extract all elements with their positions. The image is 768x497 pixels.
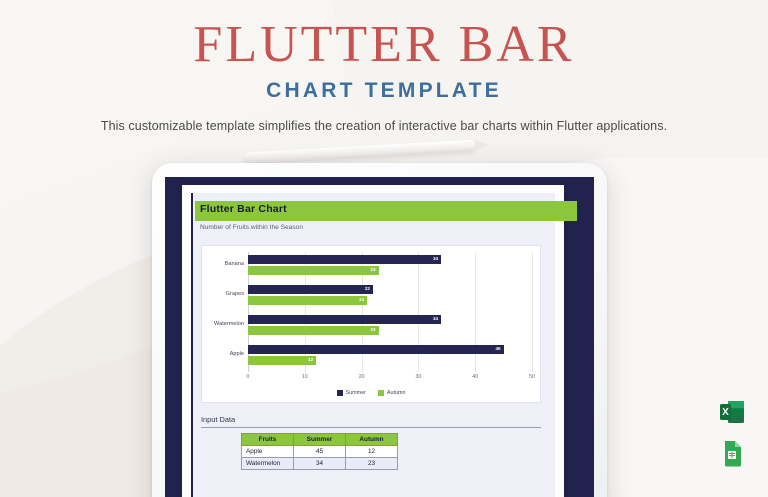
chart-legend-swatch	[337, 390, 343, 396]
table-cell: 34	[294, 458, 346, 470]
chart-category-label: Watermelon	[214, 321, 244, 327]
chart-legend-swatch	[378, 390, 384, 396]
chart-bar-summer: 45	[248, 345, 504, 354]
chart-plot-area: Banana3423Grapes2221Watermelon3423Apple4…	[248, 252, 532, 372]
input-data-table: FruitsSummerAutumn Apple4512Watermelon34…	[241, 433, 398, 470]
chart-category-group: Watermelon3423	[248, 312, 532, 342]
file-format-icons: X	[718, 398, 746, 467]
table-row: Apple4512	[242, 446, 398, 458]
document-content: Flutter Bar Chart Number of Fruits withi…	[191, 193, 555, 497]
svg-text:X: X	[722, 407, 729, 418]
tablet-screen: Flutter Bar Chart Number of Fruits withi…	[165, 177, 594, 497]
chart-bar-value: 34	[433, 316, 438, 321]
chart-category-group: Banana3423	[248, 252, 532, 282]
chart-legend-label: Summer	[346, 390, 366, 396]
table-cell: Watermelon	[242, 458, 294, 470]
table-row: Watermelon3423	[242, 458, 398, 470]
chart-bar-summer: 22	[248, 285, 373, 294]
table-body: Apple4512Watermelon3423	[242, 446, 398, 470]
chart-bar-value: 22	[365, 286, 370, 291]
chart-gridline	[532, 252, 533, 372]
chart-x-tick-label: 0	[247, 374, 250, 380]
table-cell: 45	[294, 446, 346, 458]
chart-bar-summer: 34	[248, 315, 441, 324]
table-column-header: Summer	[294, 434, 346, 446]
chart-x-tick-label: 40	[472, 374, 478, 380]
chart-legend-item[interactable]: Autumn	[378, 390, 406, 396]
chart-bar-autumn: 12	[248, 356, 316, 365]
table-header-row: FruitsSummerAutumn	[242, 434, 398, 446]
chart-legend-label: Autumn	[387, 390, 406, 396]
chart-bar-value: 45	[495, 346, 500, 351]
chart-category-label: Apple	[230, 351, 244, 357]
chart-bar-summer: 34	[248, 255, 441, 264]
chart-bar-value: 23	[371, 327, 376, 332]
document-page: Flutter Bar Chart Number of Fruits withi…	[182, 185, 564, 497]
chart-category-label: Banana	[225, 261, 244, 267]
chart-bar-autumn: 21	[248, 296, 367, 305]
table-cell: Apple	[242, 446, 294, 458]
bar-chart-card: Banana3423Grapes2221Watermelon3423Apple4…	[201, 245, 541, 403]
excel-icon[interactable]: X	[718, 398, 746, 426]
chart-legend: SummerAutumn	[202, 390, 540, 396]
chart-subtitle: Number of Fruits within the Season	[200, 224, 303, 231]
page-subtitle: CHART TEMPLATE	[0, 79, 768, 103]
chart-bar-value: 34	[433, 256, 438, 261]
chart-category-group: Grapes2221	[248, 282, 532, 312]
page-header: FLUTTER BAR CHART TEMPLATE This customiz…	[0, 0, 768, 133]
chart-bar-value: 23	[371, 267, 376, 272]
page-tagline: This customizable template simplifies th…	[0, 119, 768, 133]
chart-bar-value: 12	[308, 357, 313, 362]
chart-x-tick-label: 20	[359, 374, 365, 380]
tablet-device-mockup: Flutter Bar Chart Number of Fruits withi…	[152, 163, 607, 497]
chart-bar-value: 21	[359, 297, 364, 302]
chart-bar-autumn: 23	[248, 326, 379, 335]
chart-x-axis-ticks: 01020304050	[248, 374, 532, 384]
chart-category-group: Apple4512	[248, 342, 532, 372]
table-column-header: Autumn	[346, 434, 398, 446]
chart-bar-autumn: 23	[248, 266, 379, 275]
google-sheets-icon[interactable]	[718, 439, 746, 467]
chart-title: Flutter Bar Chart	[200, 203, 287, 215]
input-data-heading: Input Data	[201, 415, 541, 428]
table-cell: 12	[346, 446, 398, 458]
chart-category-label: Grapes	[226, 291, 244, 297]
chart-x-tick-label: 10	[302, 374, 308, 380]
table-cell: 23	[346, 458, 398, 470]
chart-x-tick-label: 30	[416, 374, 422, 380]
chart-x-tick-label: 50	[529, 374, 535, 380]
page-title: FLUTTER BAR	[0, 18, 768, 73]
table-column-header: Fruits	[242, 434, 294, 446]
chart-legend-item[interactable]: Summer	[337, 390, 366, 396]
